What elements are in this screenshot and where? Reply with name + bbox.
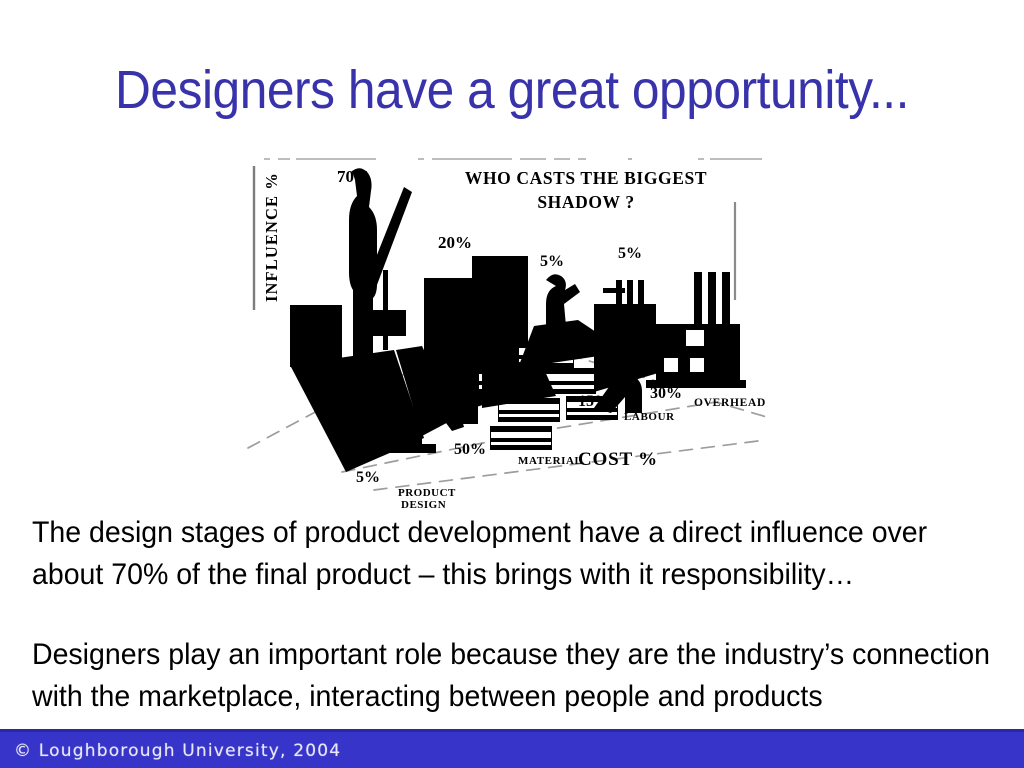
worker-1-base [362,444,436,453]
influence-label-20: 20% [438,233,472,252]
x-axis-label: COST % [578,449,658,470]
body-paragraph-2: Designers play an important role because… [32,634,952,718]
shadow-diagram-svg: INFLUENCE % WHO CASTS THE BIGGEST SHADOW… [246,152,786,510]
drafting-board-base [358,310,406,336]
cost-label-50-material: 50% [454,441,486,458]
page-title: Designers have a great opportunity... [41,62,983,119]
factory-window-3 [690,358,704,372]
category-label-design: DESIGN [401,499,446,510]
influence-label-5-labour: 5% [540,253,564,270]
cost-label-5-design: 5% [356,469,380,486]
copyright-text: © Loughborough University, 2004 [14,741,341,761]
influence-label-5-overhead: 5% [618,245,642,262]
body-paragraph-1: The design stages of product development… [32,512,952,596]
cost-label-30-overhead: 30% [650,385,682,402]
designer-pedestal [290,305,342,367]
factory-window-2 [664,358,678,372]
paragraph-2-line-1: Designers play an important role because… [32,634,952,676]
paragraph-2-line-2: with the marketplace, interacting betwee… [32,676,952,718]
category-label-product: PRODUCT [398,487,456,499]
category-label-overhead: OVERHEAD [694,397,766,409]
worker-1-plinth [370,410,422,446]
paragraph-1-line-2: about 70% of the final product – this br… [32,554,952,596]
figure-heading-line2: SHADOW ? [537,192,634,212]
paragraph-1-line-1: The design stages of product development… [32,512,952,554]
influence-label-70: 70% [337,167,371,186]
shadow-diagram-figure: INFLUENCE % WHO CASTS THE BIGGEST SHADOW… [246,152,786,510]
category-label-material: MATERIAL [518,455,583,467]
y-axis-label: INFLUENCE % [262,172,281,302]
factory-window-1 [686,330,704,346]
footer-bar: © Loughborough University, 2004 [0,729,1024,768]
figure-heading-line1: WHO CASTS THE BIGGEST [465,168,707,188]
cost-label-15-labour: 15% [578,393,610,410]
factory-stacks [694,272,730,328]
category-label-labour: LABOUR [624,411,675,423]
